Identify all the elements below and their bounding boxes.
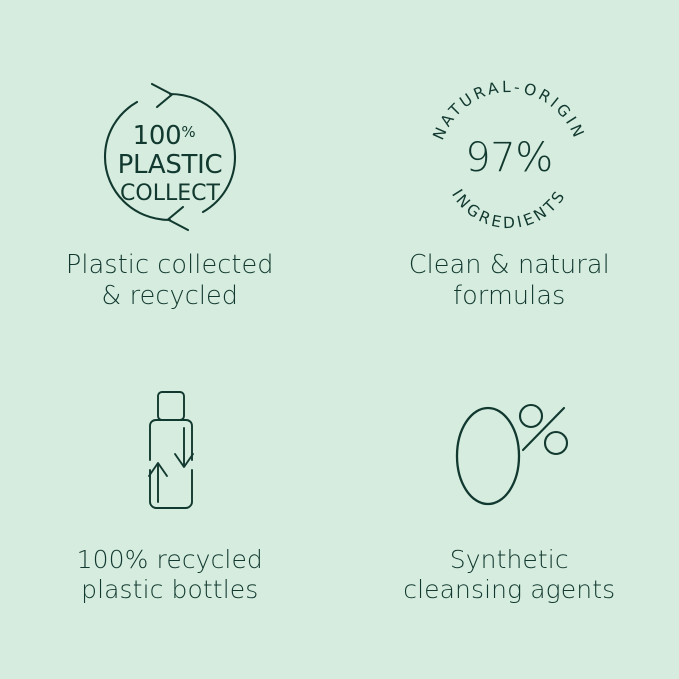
recycled-bottle-icon: [110, 384, 230, 519]
arc-top-label: NATURAL-ORIGIN: [430, 78, 589, 143]
badge-percent: %: [181, 123, 195, 141]
recycle-circle-icon: 100% PLASTIC COLLECT: [84, 78, 256, 236]
zero-percent-icon: [439, 384, 579, 519]
badge-97-percent: 97%: [466, 135, 553, 181]
claim-caption: Clean & natural formulas: [409, 250, 610, 312]
arc-text-top: NATURAL-ORIGIN: [430, 78, 589, 143]
claim-plastic-collected: 100% PLASTIC COLLECT Plastic collected &…: [0, 0, 340, 340]
badge-collect: COLLECT: [120, 181, 220, 206]
arc-bottom-label: INGREDIENTS: [448, 186, 570, 232]
claims-grid: 100% PLASTIC COLLECT Plastic collected &…: [0, 0, 679, 679]
arc-text-bottom: INGREDIENTS: [448, 186, 570, 232]
natural-origin-seal-icon: NATURAL-ORIGIN INGREDIENTS 97%: [423, 78, 595, 236]
claim-caption: Plastic collected & recycled: [66, 250, 274, 312]
sustainability-claims-panel: 100% PLASTIC COLLECT Plastic collected &…: [0, 0, 679, 679]
badge-100: 100: [132, 121, 181, 151]
badge-plastic: PLASTIC: [117, 150, 222, 180]
claim-synthetic-cleansing-agents: Synthetic cleansing agents: [340, 340, 679, 679]
claim-caption: Synthetic cleansing agents: [403, 545, 615, 606]
claim-caption: 100% recycled plastic bottles: [77, 545, 263, 606]
claim-recycled-bottles: 100% recycled plastic bottles: [0, 340, 340, 679]
claim-natural-origin: NATURAL-ORIGIN INGREDIENTS 97% Clean & n…: [340, 0, 679, 340]
svg-text:100%: 100%: [132, 121, 195, 151]
